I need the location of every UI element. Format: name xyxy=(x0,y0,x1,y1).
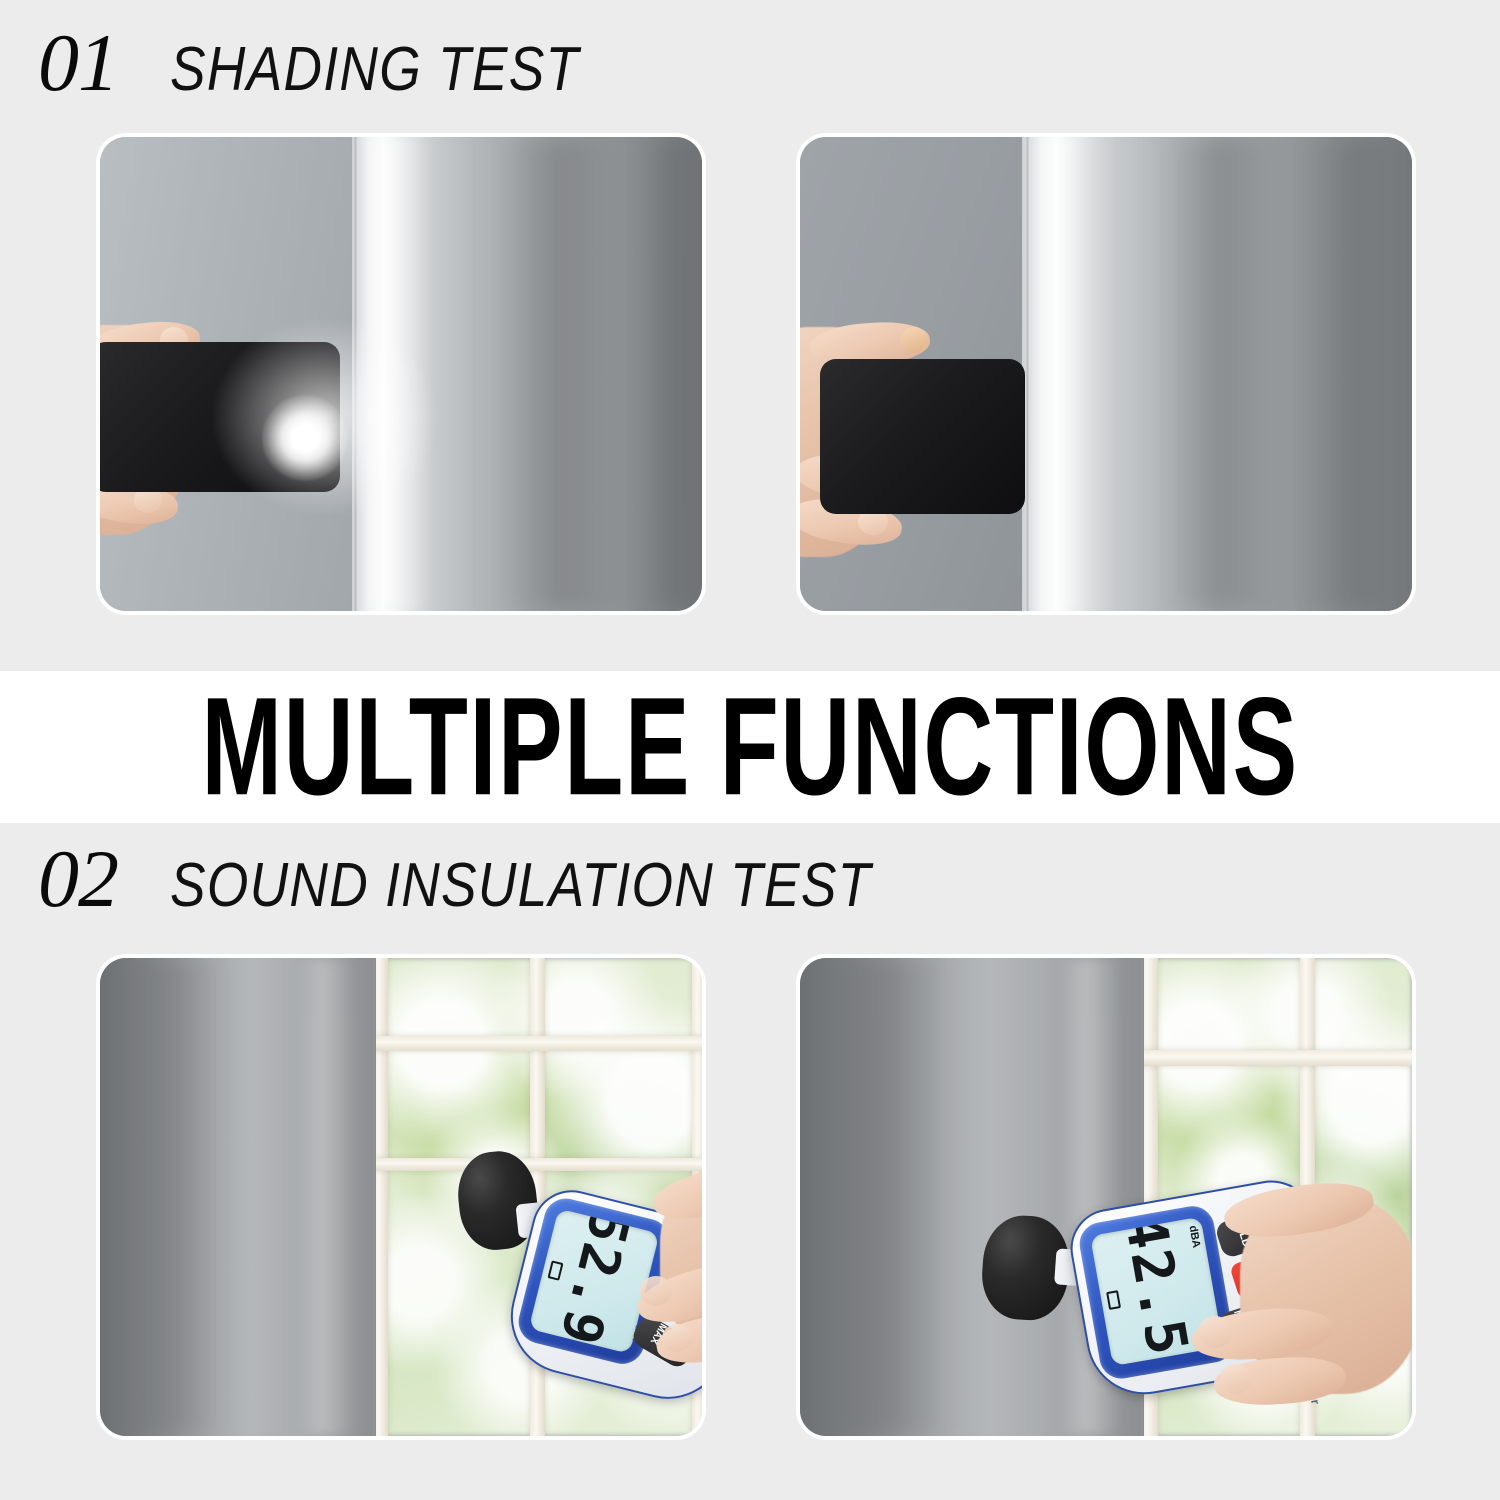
curtain-fold-shadow xyxy=(1160,137,1280,611)
curtain-seam xyxy=(1026,137,1029,611)
section-title: SHADING TEST xyxy=(170,39,580,101)
curtain-seam xyxy=(372,958,375,1436)
curtain-fold-shadow xyxy=(826,958,956,1436)
fingernail-middle xyxy=(640,1276,672,1306)
section-title: SOUND INSULATION TEST xyxy=(170,855,872,917)
fingernail-middle xyxy=(1198,1316,1232,1348)
banner-text: MULTIPLE FUNCTIONS xyxy=(201,677,1298,816)
photo-meter-window: 52.9 dBA HOLD ⏻ MAX xyxy=(100,958,702,1436)
section-number: 02 xyxy=(38,838,118,920)
lcd-battery-icon xyxy=(547,1260,563,1280)
fingernail-index xyxy=(900,327,928,353)
curtain-highlight xyxy=(296,958,356,1436)
banner-multiple-functions: MULTIPLE FUNCTIONS xyxy=(0,671,1500,823)
photo-flashlight-front xyxy=(100,137,702,611)
window-mullion-horizontal-1 xyxy=(372,1036,702,1051)
lcd-reading: 52.9 xyxy=(553,1208,642,1331)
photo-meter-curtain: 42.5 dBA HOLD ⏻ MAX GM1352 Sound Level M… xyxy=(800,958,1412,1436)
fingernail-ring xyxy=(1220,1364,1252,1394)
fingernail-ring xyxy=(662,1324,692,1352)
panel-sound-window: 52.9 dBA HOLD ⏻ MAX xyxy=(100,958,702,1436)
curtain-highlight xyxy=(1030,137,1092,611)
curtain-fold-shadow xyxy=(500,137,620,611)
lcd-unit: dBA xyxy=(1187,1224,1203,1248)
infographic-page: 01 SHADING TEST xyxy=(0,0,1500,1500)
curtain-fold-shadow xyxy=(120,958,230,1436)
section-number: 01 xyxy=(38,22,118,104)
section-heading-02: 02 SOUND INSULATION TEST xyxy=(38,838,986,920)
flashlight-beam xyxy=(262,395,348,481)
window-mullion-horizontal-1 xyxy=(1140,1050,1412,1066)
photo-phone-behind xyxy=(800,137,1412,611)
lcd-battery-icon xyxy=(1106,1290,1121,1310)
curtain-fold-shadow-2 xyxy=(1295,137,1405,611)
panel-shading-light xyxy=(100,137,702,611)
smartphone xyxy=(820,359,1025,514)
section-heading-01: 01 SHADING TEST xyxy=(38,22,646,104)
panel-shading-dark xyxy=(800,137,1412,611)
lcd-reading: 42.5 xyxy=(1111,1217,1197,1343)
curtain-fold-shadow-2 xyxy=(630,137,702,611)
panel-sound-curtain: 42.5 dBA HOLD ⏻ MAX GM1352 Sound Level M… xyxy=(800,958,1412,1436)
